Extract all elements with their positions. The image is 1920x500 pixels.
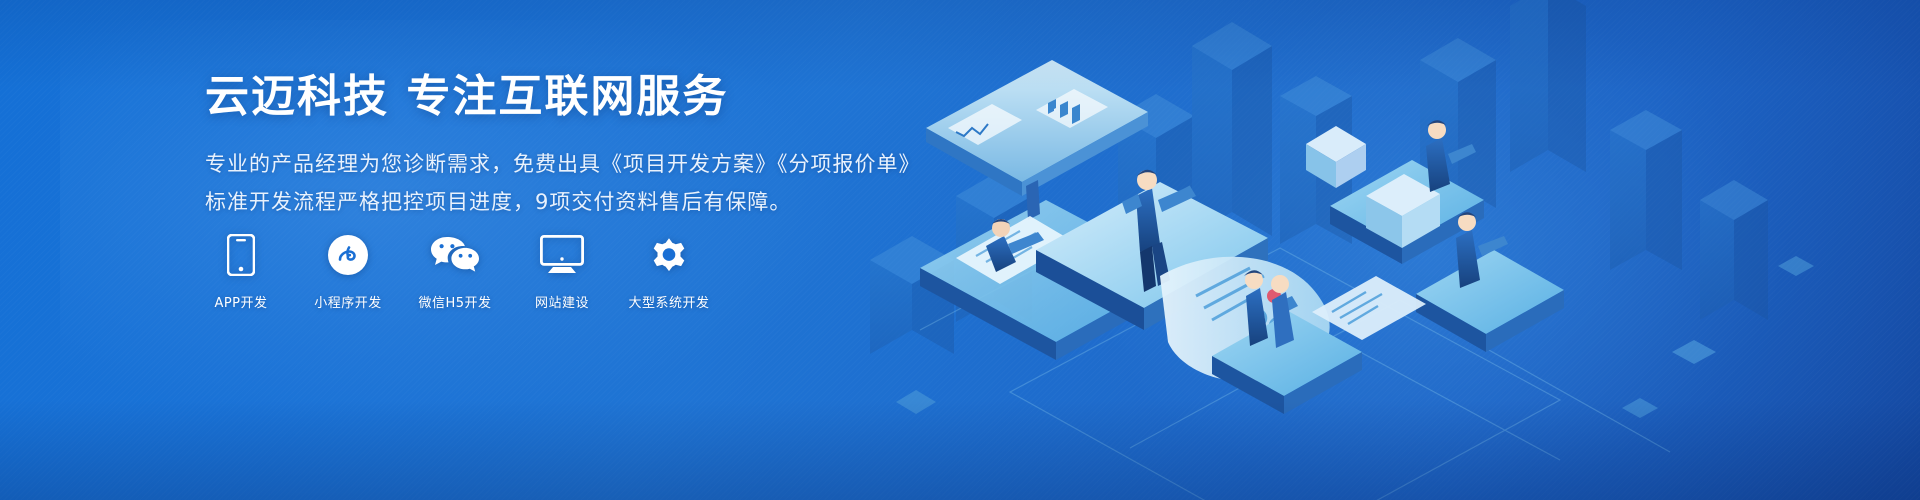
banner-copy: 云迈科技 专注互联网服务 专业的产品经理为您诊断需求，免费出具《项目开发方案》《… [205,72,925,222]
service-label: 大型系统开发 [629,292,710,311]
banner-subtitle: 专业的产品经理为您诊断需求，免费出具《项目开发方案》《分项报价单》 标准开发流程… [205,145,925,223]
service-item-website[interactable]: 网站建设 [526,232,598,311]
page-title: 云迈科技 专注互联网服务 [205,72,925,123]
service-label: APP开发 [214,292,267,311]
mobile-phone-icon [227,232,255,278]
service-list: APP开发 小程序开发 [205,232,705,311]
platform-right-lower [1416,250,1564,352]
subtitle-line-1: 专业的产品经理为您诊断需求，免费出具《项目开发方案》《分项报价单》 [205,145,925,184]
service-label: 网站建设 [535,292,589,311]
hero-banner: 云迈科技 专注互联网服务 专业的产品经理为您诊断需求，免费出具《项目开发方案》《… [0,0,1920,500]
monitor-icon [540,232,584,278]
service-item-app[interactable]: APP开发 [205,232,277,311]
gear-icon [648,232,690,278]
subtitle-line-2: 标准开发流程严格把控项目进度，9项交付资料售后有保障。 [205,183,925,222]
mini-program-icon [327,232,369,278]
service-item-mini-program[interactable]: 小程序开发 [312,232,384,311]
wechat-icon [430,232,480,278]
service-label: 小程序开发 [314,292,382,311]
service-item-wechat-h5[interactable]: 微信H5开发 [419,232,491,311]
isometric-illustration [860,0,1920,500]
service-label: 微信H5开发 [418,292,491,311]
service-item-large-system[interactable]: 大型系统开发 [633,232,705,311]
